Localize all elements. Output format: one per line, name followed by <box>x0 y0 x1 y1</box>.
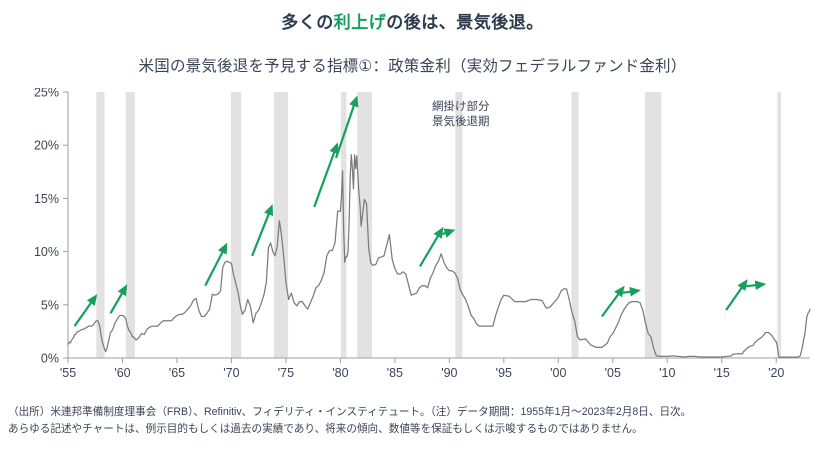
recession-band <box>231 92 241 358</box>
recession-annotation: 網掛け部分 景気後退期 <box>432 100 490 130</box>
recession-band <box>777 92 781 358</box>
footnote-line-2: あらゆる記述やチャートは、例示目的もしくは過去の実績であり、将来の傾向、数値等を… <box>8 421 820 438</box>
y-axis-tick-label: 15% <box>34 192 59 206</box>
title-highlight: 利上げ <box>334 13 387 32</box>
recession-band <box>126 92 135 358</box>
trend-arrow <box>602 290 622 317</box>
trend-arrow <box>75 298 95 326</box>
trend-arrow <box>726 284 745 311</box>
x-axis-tick-label: '70 <box>223 366 239 380</box>
annotation-line-2: 景気後退期 <box>432 115 490 130</box>
x-axis-tick-label: '55 <box>60 366 76 380</box>
x-axis-tick-label: '65 <box>169 366 185 380</box>
footnote: （出所）米連邦準備制度理事会（FRB）、Refinitiv、フィデリティ・インス… <box>8 404 820 438</box>
y-axis-tick-label: 20% <box>34 139 59 153</box>
recession-band <box>645 92 661 358</box>
x-axis-tick-label: '15 <box>714 366 730 380</box>
chart-plot: 0%5%10%15%20%25% <box>0 88 825 380</box>
data-line-fed-funds-rate <box>68 155 810 358</box>
recession-band <box>357 92 372 358</box>
x-axis-tick-label: '75 <box>278 366 294 380</box>
y-axis-tick-label: 5% <box>41 298 59 312</box>
trend-arrow <box>620 291 635 293</box>
x-axis-tick-label: '20 <box>768 366 784 380</box>
x-axis-tick-label: '95 <box>496 366 512 380</box>
y-axis-tick-label: 0% <box>41 352 59 366</box>
recession-band <box>96 92 104 358</box>
y-axis-tick-label: 25% <box>34 88 59 100</box>
title-suffix: の後は、景気後退。 <box>386 13 544 32</box>
trend-arrow <box>420 231 441 266</box>
recession-band <box>455 92 462 358</box>
chart-svg: 0%5%10%15%20%25% <box>0 88 825 380</box>
trend-arrow <box>314 147 336 207</box>
chart-page: 多くの利上げの後は、景気後退。 米国の景気後退を予見する指標①：政策金利（実効フ… <box>0 0 825 464</box>
x-axis-tick-label: '05 <box>605 366 621 380</box>
y-axis-tick-label: 10% <box>34 245 59 259</box>
x-axis-tick-label: '10 <box>659 366 675 380</box>
x-axis-tick-label: '90 <box>441 366 457 380</box>
chart-subtitle: 米国の景気後退を予見する指標①：政策金利（実効フェデラルファンド金利） <box>0 54 825 76</box>
x-axis-tick-label: '60 <box>114 366 130 380</box>
recession-band <box>571 92 578 358</box>
title-prefix: 多くの <box>281 13 334 32</box>
x-axis-tick-label: '80 <box>332 366 348 380</box>
x-axis-tick-label: '85 <box>387 366 403 380</box>
footnote-line-1: （出所）米連邦準備制度理事会（FRB）、Refinitiv、フィデリティ・インス… <box>8 404 820 421</box>
trend-arrow <box>110 289 124 313</box>
annotation-line-1: 網掛け部分 <box>432 100 490 115</box>
recession-band <box>274 92 288 358</box>
x-axis-tick-label: '00 <box>550 366 566 380</box>
page-title: 多くの利上げの後は、景気後退。 <box>0 8 825 33</box>
trend-arrow <box>742 285 761 287</box>
